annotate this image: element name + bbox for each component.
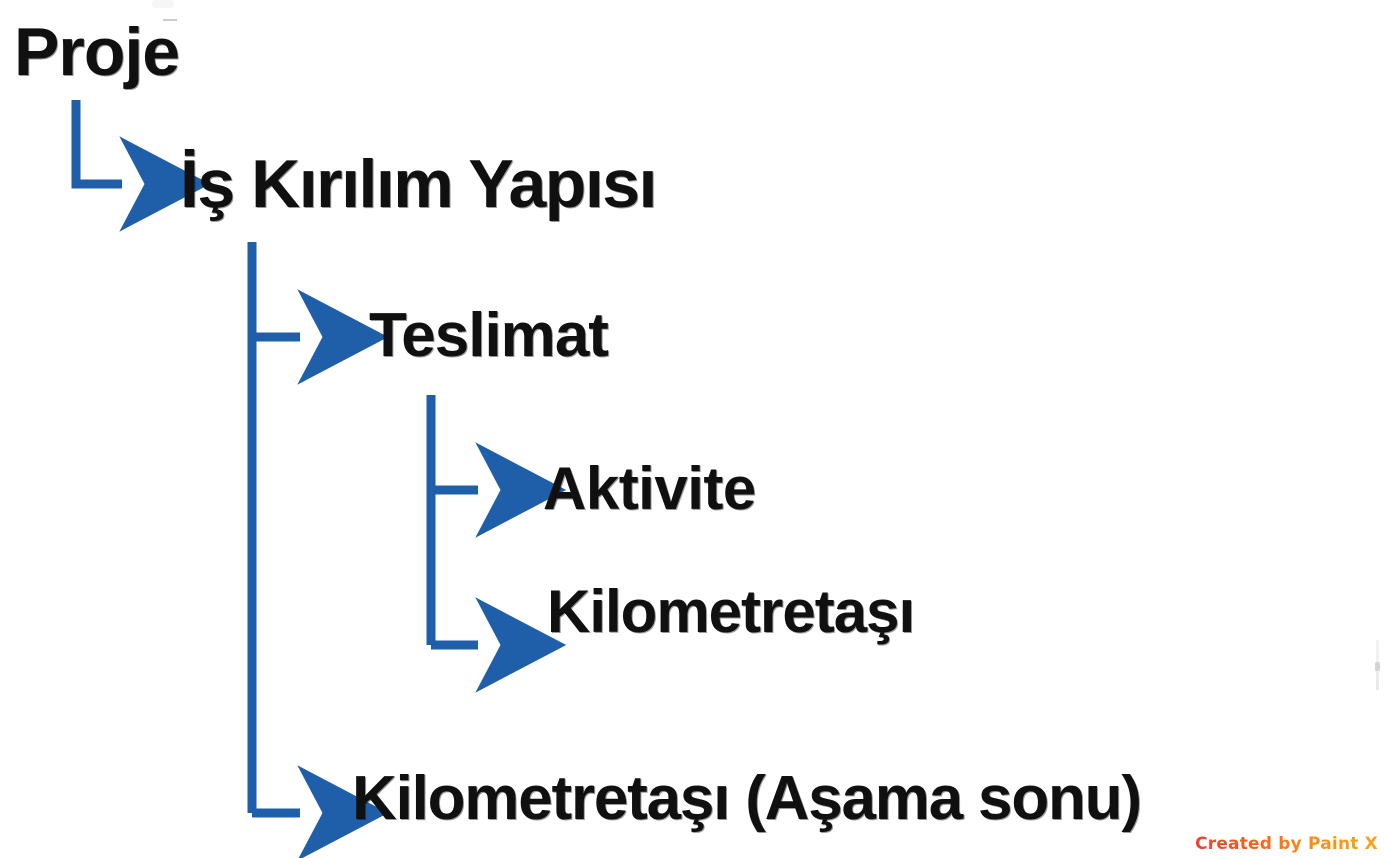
node-aktivite: Aktivite: [543, 459, 756, 519]
node-teslimat: Teslimat: [369, 305, 608, 367]
node-kilometretasi: Kilometretaşı: [547, 582, 914, 642]
diagram-canvas: Proje İş Kırılım Yapısı Teslimat Aktivit…: [0, 0, 1384, 858]
scan-artifact-top-speck: [163, 19, 177, 21]
connector-proje-to-wbs: [76, 100, 122, 184]
watermark-created-by-paint-x: Created by Paint X: [1195, 834, 1378, 854]
node-is-kirilim-yapisi: İş Kırılım Yapısı: [180, 150, 656, 218]
node-proje: Proje: [14, 18, 179, 86]
scan-artifact-top-smudge: [152, 0, 174, 8]
scan-artifact-right-edge-dot: [1375, 662, 1380, 671]
connector-layer: [0, 0, 1384, 858]
node-kilometretasi-asama-sonu: Kilometretaşı (Aşama sonu): [352, 768, 1141, 830]
